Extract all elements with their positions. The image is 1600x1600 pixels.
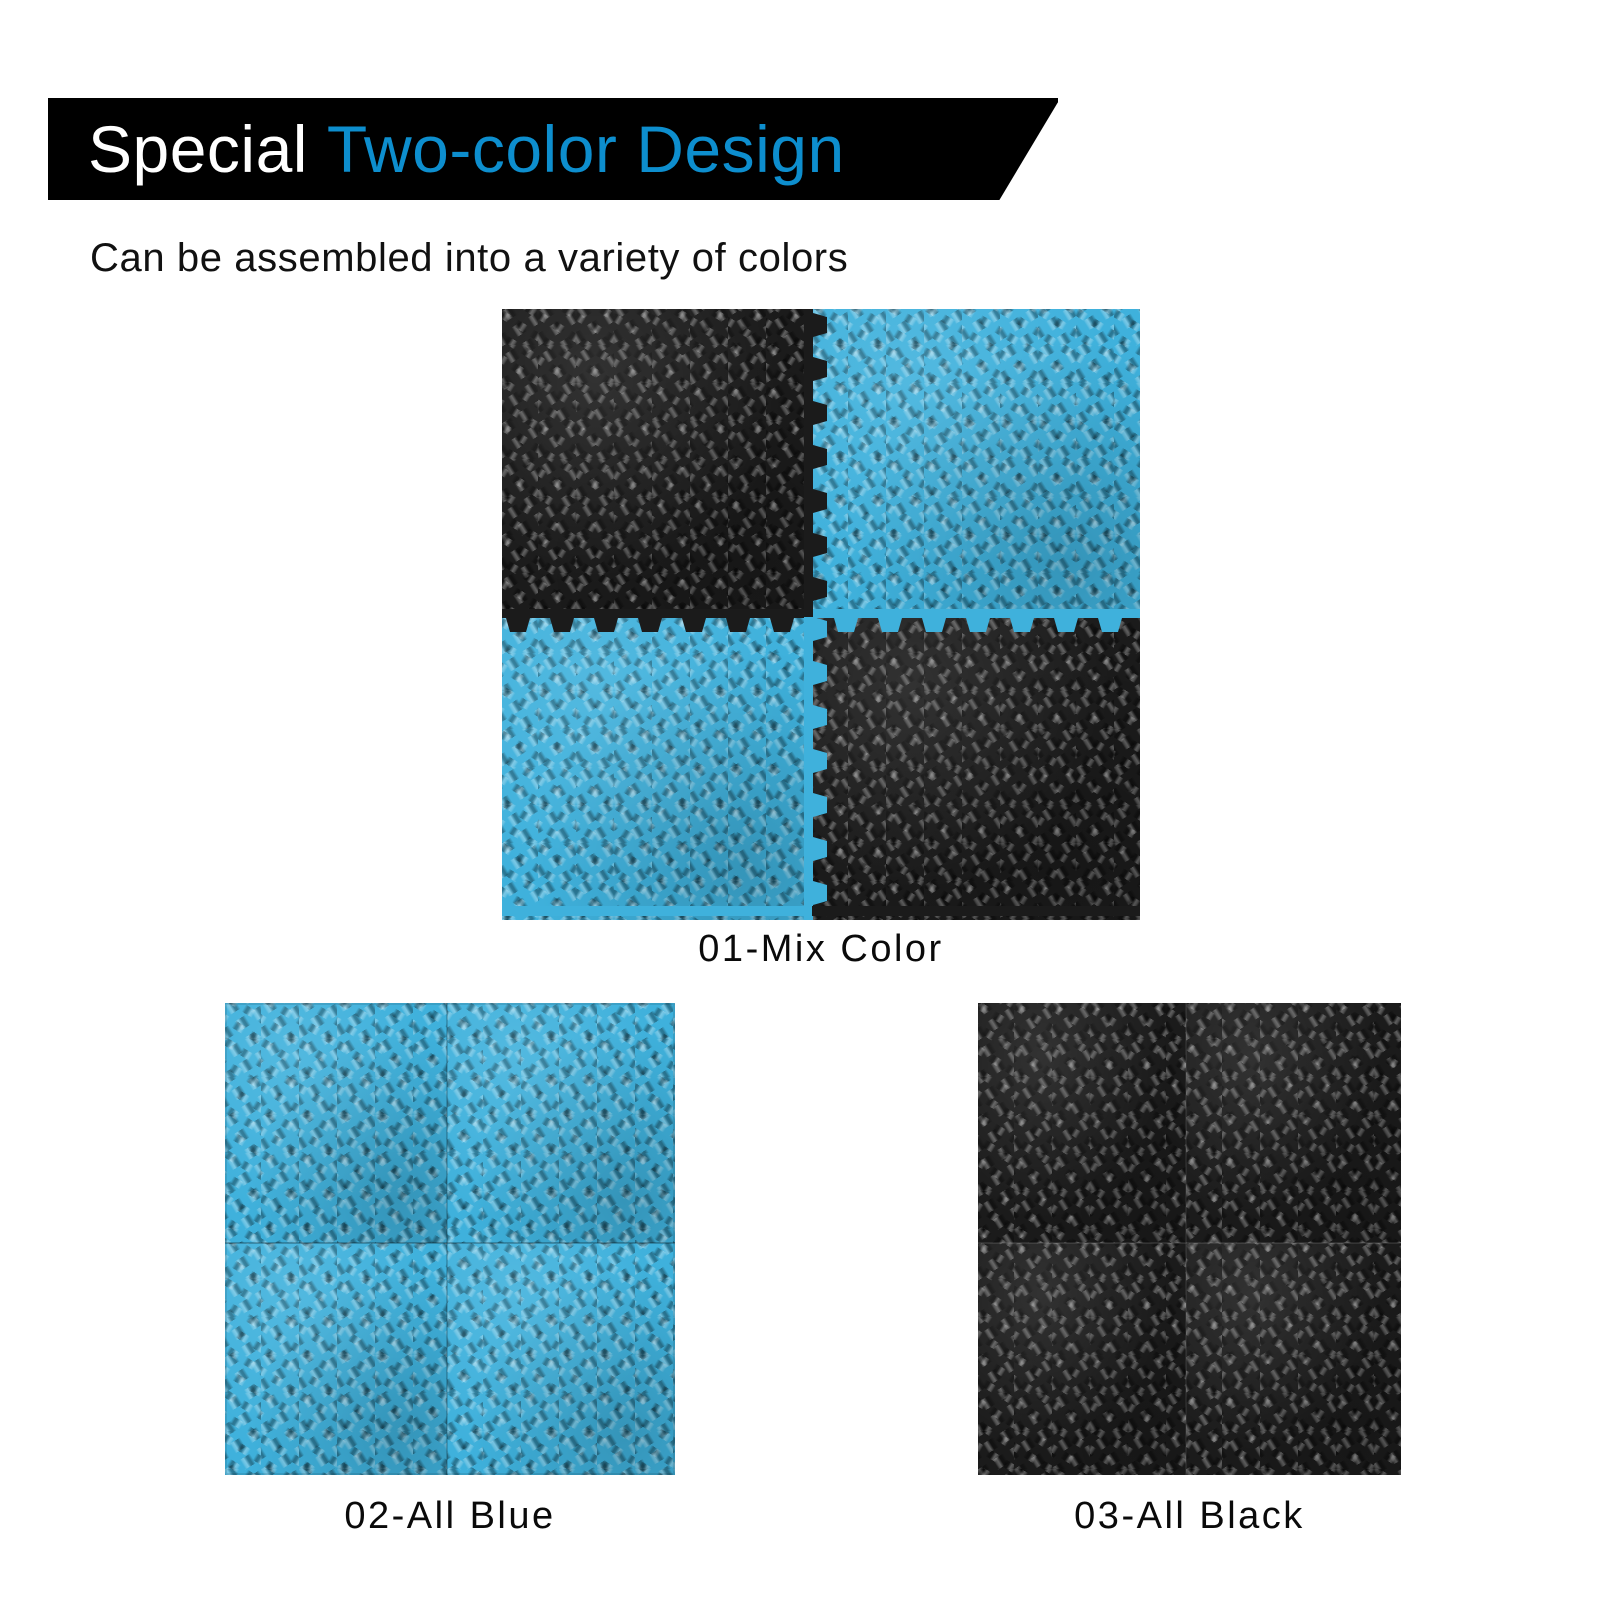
interlock-teeth-horizontal-right	[812, 609, 1140, 635]
tile-surface	[502, 617, 812, 920]
product-image-mix-color	[502, 309, 1140, 920]
headline-word-two-color-design: Two-color Design	[327, 112, 845, 186]
seam-horizontal	[978, 1242, 1401, 1244]
tile-surface	[1186, 1243, 1401, 1475]
interlock-teeth-horizontal-left	[502, 609, 812, 635]
caption-all-blue: 02-All Blue	[225, 1495, 675, 1538]
tile-surface	[812, 617, 1140, 920]
headline-word-special: Special	[88, 112, 308, 186]
diamond-plate-texture	[978, 1003, 1186, 1243]
product-image-all-black	[978, 1003, 1401, 1475]
seam-vertical	[1185, 1003, 1187, 1475]
diamond-plate-texture	[978, 1243, 1186, 1475]
headline-banner: Special Two-color Design	[48, 98, 1058, 200]
interlock-teeth-vertical-bottom	[804, 617, 830, 920]
tile-surface	[978, 1243, 1186, 1475]
tile-bottom-left-black	[978, 1243, 1186, 1475]
tile-bottom-right-black	[812, 617, 1140, 920]
tile-bottom-right-black	[1186, 1243, 1401, 1475]
headline-text: Special Two-color Design	[48, 116, 845, 182]
diamond-plate-texture	[502, 309, 812, 617]
product-image-all-blue	[225, 1003, 675, 1475]
diamond-plate-texture	[812, 617, 1140, 920]
subtitle-text: Can be assembled into a variety of color…	[90, 236, 848, 281]
diamond-plate-texture	[1186, 1243, 1401, 1475]
tile-bottom-left-blue	[502, 617, 812, 920]
caption-all-black: 03-All Black	[978, 1495, 1401, 1538]
tile-top-right-black	[1186, 1003, 1401, 1243]
diamond-plate-texture	[812, 309, 1140, 617]
interlock-teeth-vertical-top	[804, 309, 830, 617]
tile-surface	[502, 309, 812, 617]
tile-top-left-black	[978, 1003, 1186, 1243]
tile-surface	[978, 1003, 1186, 1243]
diamond-plate-texture	[502, 617, 812, 920]
tile-surface	[812, 309, 1140, 617]
tile-top-right-blue	[812, 309, 1140, 617]
diamond-plate-texture	[1186, 1003, 1401, 1243]
tile-surface	[1186, 1003, 1401, 1243]
caption-mix-color: 01-Mix Color	[502, 928, 1140, 971]
edge-outline	[225, 1003, 675, 1475]
tile-top-left-black	[502, 309, 812, 617]
interlock-edge-nubs-bottom	[502, 906, 1140, 920]
